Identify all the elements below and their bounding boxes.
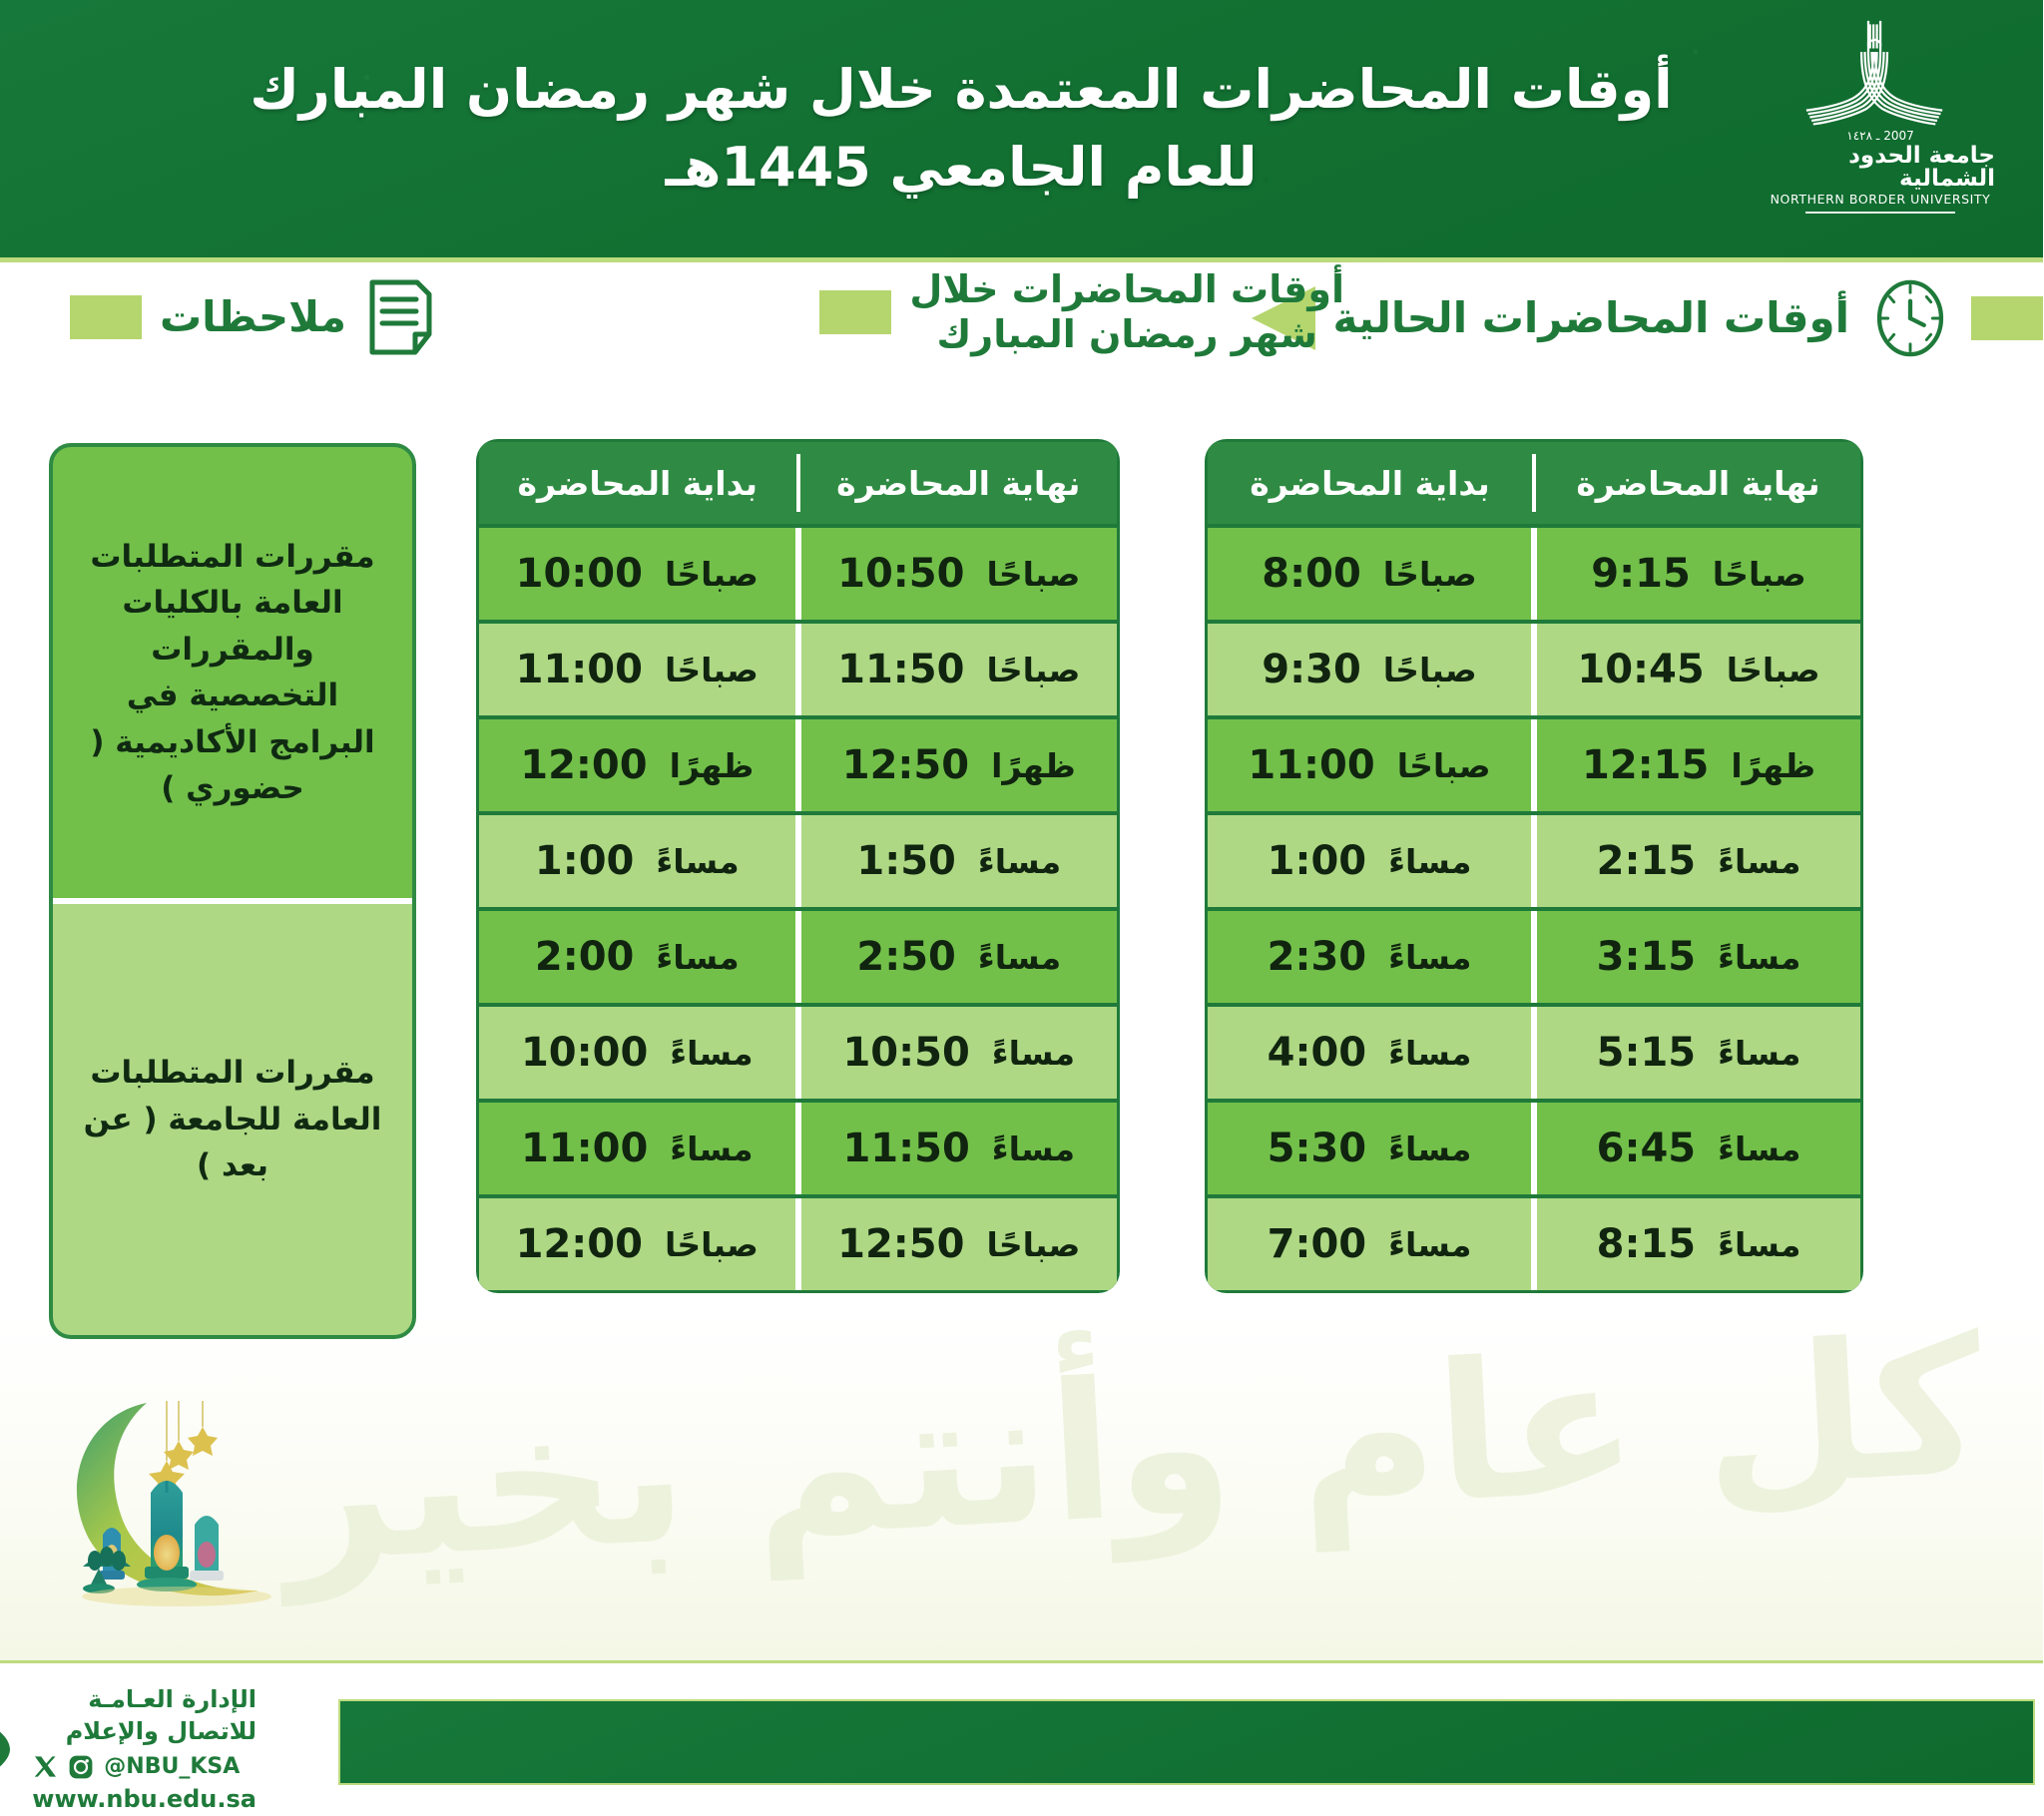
current-end-cell: مساءً8:15 [1538,1198,1861,1290]
instagram-icon[interactable] [69,1754,95,1780]
current-end-cell: مساءً2:15 [1538,815,1861,907]
section-header-notes: ملاحظات [71,277,437,357]
cell-divider [796,719,802,811]
start-ampm: صباحًا [666,1225,760,1264]
ramadan-lantern-decoration [28,1385,327,1634]
end-time: 10:45 [1578,647,1705,692]
x-twitter-icon[interactable] [33,1754,59,1780]
start-ampm: مساءً [657,842,740,881]
start-time: 11:00 [517,647,644,692]
end-ampm: مساءً [1719,1130,1801,1168]
ramadan-start-cell: مساءً2:00 [480,911,796,1003]
notes-document-icon [365,277,437,357]
end-ampm: صباحًا [987,1225,1081,1264]
start-time: 11:00 [1249,742,1375,788]
ramadan-table-body: صباحًا10:50صباحًا10:00صباحًا11:50صباحًا1… [480,528,1118,1290]
calligraphy-watermark: كل عام وأنتم بخير [278,1296,1988,1605]
end-time: 10:50 [843,1030,970,1076]
start-time: 1:00 [1269,838,1368,884]
table-row: ظهرًا12:15صباحًا11:00 [1209,719,1861,811]
logo-name-english: NORTHERN BORDER UNIVERSITY [1772,194,1992,207]
table-row: مساءً3:15مساءً2:30 [1209,911,1861,1003]
start-ampm: صباحًا [1384,651,1478,689]
end-ampm: مساءً [979,842,1062,881]
section-title-current: أوقات المحاضرات الحالية [1334,293,1851,343]
start-ampm: صباحًا [666,651,760,689]
footer-dept-line2: للاتصال والإعلام [33,1715,257,1747]
ramadan-start-cell: ظهرًا12:00 [480,719,796,811]
cell-divider [796,1198,802,1290]
ramadan-header-divider [797,454,801,512]
cell-divider [1532,1198,1538,1290]
section-header-current: أوقات المحاضرات الحالية [1253,275,2044,361]
table-row: مساءً2:15مساءً1:00 [1209,815,1861,907]
university-logo: 2007 ـ ١٤٢٨ جامعة الحدود الشمالية NORTHE… [1767,14,1996,214]
start-ampm: ظهرًا [671,746,756,785]
end-time: 6:45 [1598,1126,1698,1171]
current-start-cell: مساءً7:00 [1209,1198,1532,1290]
end-time: 2:15 [1598,838,1698,884]
clock-icon [1868,275,1954,361]
start-time: 1:00 [536,838,636,884]
current-end-cell: ظهرًا12:15 [1538,719,1861,811]
footer-website[interactable]: www.nbu.edu.sa [33,1783,257,1815]
current-end-cell: مساءً3:15 [1538,911,1861,1003]
cell-divider [1532,528,1538,620]
logo-name-arabic: جامعة الحدود الشمالية [1767,145,1996,191]
start-time: 4:00 [1269,1030,1368,1076]
footer-dept-line1: الإدارة العـامـة [33,1683,257,1715]
footer-brand-block: الإدارة العـامـة للاتصال والإعلام @NBU_K… [0,1683,257,1816]
ramadan-table-header-row: نهاية المحاضرة بداية المحاضرة [480,442,1118,524]
start-ampm: مساءً [1389,938,1472,977]
end-ampm: صباحًا [987,555,1081,594]
section-title-ramadan-line2: شهر رمضان المبارك [910,312,1345,357]
end-time: 3:15 [1598,934,1698,980]
start-ampm: صباحًا [1384,555,1478,594]
ramadan-end-cell: مساءً11:50 [802,1103,1119,1194]
current-col-end-header: نهاية المحاضرة [1537,442,1861,524]
start-time: 12:00 [517,1221,644,1267]
cell-divider [1532,911,1538,1003]
current-start-cell: مساءً5:30 [1209,1103,1532,1194]
ramadan-col-end-header: نهاية المحاضرة [801,442,1119,524]
ramadan-col-start-header: بداية المحاضرة [480,442,797,524]
cell-divider [796,911,802,1003]
cell-divider [1532,624,1538,715]
start-ampm: مساءً [671,1130,754,1168]
cell-divider [796,624,802,715]
logo-divider [1806,212,1956,214]
ramadan-start-cell: صباحًا11:00 [480,624,796,715]
end-ampm: مساءً [993,1034,1076,1073]
ramadan-end-cell: ظهرًا12:50 [802,719,1119,811]
cell-divider [796,1103,802,1194]
end-ampm: مساءً [1719,1034,1801,1073]
footer-social-handle[interactable]: @NBU_KSA [105,1752,241,1782]
start-time: 11:00 [522,1126,649,1171]
section-title-notes: ملاحظات [161,292,347,342]
start-time: 2:30 [1269,934,1368,980]
current-table-body: صباحًا9:15صباحًا8:00صباحًا10:45صباحًا9:3… [1209,528,1861,1290]
table-row: صباحًا11:50صباحًا11:00 [480,624,1118,715]
table-row: مساءً11:50مساءً11:00 [480,1103,1118,1194]
current-start-cell: مساءً4:00 [1209,1007,1532,1099]
table-row: مساءً1:50مساءً1:00 [480,815,1118,907]
page-header: أوقات المحاضرات المعتمدة خلال شهر رمضان … [0,0,2044,262]
end-ampm: مساءً [1719,938,1801,977]
accent-swatch-ramadan [820,290,892,334]
current-start-cell: مساءً1:00 [1209,815,1532,907]
table-row: صباحًا9:15صباحًا8:00 [1209,528,1861,620]
section-title-ramadan-line1: أوقات المحاضرات خلال [910,267,1345,312]
cell-divider [1532,815,1538,907]
start-ampm: مساءً [1389,1034,1472,1073]
table-row: صباحًا10:45صباحًا9:30 [1209,624,1861,715]
start-time: 12:00 [521,742,648,788]
ramadan-end-cell: مساءً10:50 [802,1007,1119,1099]
end-time: 12:50 [838,1221,965,1267]
current-times-table: نهاية المحاضرة بداية المحاضرة صباحًا9:15… [1206,439,1864,1293]
start-time: 9:30 [1263,647,1362,692]
end-time: 12:15 [1583,742,1710,788]
current-end-cell: صباحًا9:15 [1538,528,1861,620]
start-ampm: صباحًا [1398,746,1492,785]
accent-swatch-notes [71,295,143,339]
table-row: مساءً10:50مساءً10:00 [480,1007,1118,1099]
page-title-line1: أوقات المحاضرات المعتمدة خلال شهر رمضان … [251,51,1673,129]
start-time: 2:00 [536,934,636,980]
start-ampm: مساءً [657,938,740,977]
ramadan-end-cell: صباحًا11:50 [802,624,1119,715]
end-time: 9:15 [1592,551,1692,597]
table-row: ظهرًا12:50ظهرًا12:00 [480,719,1118,811]
note-item-onsite: مقررات المتطلبات العامة بالكليات والمقرر… [54,447,413,898]
ramadan-times-table: نهاية المحاضرة بداية المحاضرة صباحًا10:5… [477,439,1121,1293]
ramadan-end-cell: صباحًا10:50 [802,528,1119,620]
end-time: 12:50 [843,742,970,788]
main-content: كل عام وأنتم بخير أوقات المحاضرات الحالي… [0,267,2044,1810]
start-ampm: صباحًا [666,555,760,594]
current-header-divider [1533,454,1537,512]
end-ampm: مساءً [979,938,1062,977]
current-col-start-header: بداية المحاضرة [1209,442,1533,524]
footer-green-bar [339,1699,2036,1785]
end-time: 11:50 [843,1126,970,1171]
end-time: 10:50 [838,551,965,597]
current-start-cell: صباحًا9:30 [1209,624,1532,715]
table-row: مساءً8:15مساءً7:00 [1209,1198,1861,1290]
start-time: 5:30 [1269,1126,1368,1171]
end-time: 5:15 [1598,1030,1698,1076]
current-table-header-row: نهاية المحاضرة بداية المحاضرة [1209,442,1861,524]
start-ampm: مساءً [1389,1130,1472,1168]
ramadan-start-cell: مساءً1:00 [480,815,796,907]
page-footer: الإدارة العـامـة للاتصال والإعلام @NBU_K… [0,1660,2044,1810]
ramadan-start-cell: صباحًا10:00 [480,528,796,620]
start-time: 8:00 [1263,551,1362,597]
end-ampm: مساءً [993,1130,1076,1168]
table-row: صباحًا10:50صباحًا10:00 [480,528,1118,620]
current-start-cell: صباحًا11:00 [1209,719,1532,811]
end-ampm: مساءً [1719,1225,1801,1264]
current-end-cell: مساءً6:45 [1538,1103,1861,1194]
cell-divider [796,815,802,907]
page-title: أوقات المحاضرات المعتمدة خلال شهر رمضان … [251,51,1673,208]
current-end-cell: مساءً5:15 [1538,1007,1861,1099]
end-ampm: ظهرًا [992,746,1077,785]
cell-divider [796,528,802,620]
end-time: 11:50 [838,647,965,692]
section-title-ramadan: أوقات المحاضرات خلال شهر رمضان المبارك [910,267,1345,357]
current-start-cell: مساءً2:30 [1209,911,1532,1003]
section-header-ramadan: أوقات المحاضرات خلال شهر رمضان المبارك [820,267,1345,357]
nbu-badge-icon: NBU [0,1701,23,1797]
start-ampm: مساءً [671,1034,754,1073]
table-row: مساءً2:50مساءً2:00 [480,911,1118,1003]
end-ampm: ظهرًا [1732,746,1816,785]
start-time: 10:00 [517,551,644,597]
table-row: صباحًا12:50صباحًا12:00 [480,1198,1118,1290]
cell-divider [1532,1103,1538,1194]
ramadan-start-cell: مساءً10:00 [480,1007,796,1099]
page-title-line2: للعام الجامعي 1445هـ [251,129,1673,207]
end-time: 1:50 [857,838,957,884]
ramadan-start-cell: صباحًا12:00 [480,1198,796,1290]
ramadan-end-cell: صباحًا12:50 [802,1198,1119,1290]
cell-divider [1532,1007,1538,1099]
table-row: مساءً6:45مساءً5:30 [1209,1103,1861,1194]
end-time: 8:15 [1598,1221,1698,1267]
accent-swatch-right [1972,296,2044,340]
ramadan-end-cell: مساءً1:50 [802,815,1119,907]
table-row: مساءً5:15مساءً4:00 [1209,1007,1861,1099]
start-time: 7:00 [1269,1221,1368,1267]
start-time: 10:00 [522,1030,649,1076]
start-ampm: مساءً [1389,1225,1472,1264]
current-start-cell: صباحًا8:00 [1209,528,1532,620]
note-item-remote: مقررات المتطلبات العامة للجامعة ( عن بعد… [54,904,413,1335]
end-time: 2:50 [857,934,957,980]
footer-social-row: @NBU_KSA [33,1752,257,1782]
logo-founding-year: 2007 ـ ١٤٢٨ [1847,129,1914,143]
start-ampm: مساءً [1389,842,1472,881]
end-ampm: مساءً [1719,842,1801,881]
ramadan-end-cell: مساءً2:50 [802,911,1119,1003]
end-ampm: صباحًا [1728,651,1821,689]
footer-department-info: الإدارة العـامـة للاتصال والإعلام @NBU_K… [33,1683,257,1816]
cell-divider [1532,719,1538,811]
end-ampm: صباحًا [1714,555,1807,594]
current-end-cell: صباحًا10:45 [1538,624,1861,715]
end-ampm: صباحًا [987,651,1081,689]
ramadan-start-cell: مساءً11:00 [480,1103,796,1194]
notes-panel: مقررات المتطلبات العامة بالكليات والمقرر… [50,443,417,1339]
nbu-logo-mark [1789,14,1974,135]
cell-divider [796,1007,802,1099]
